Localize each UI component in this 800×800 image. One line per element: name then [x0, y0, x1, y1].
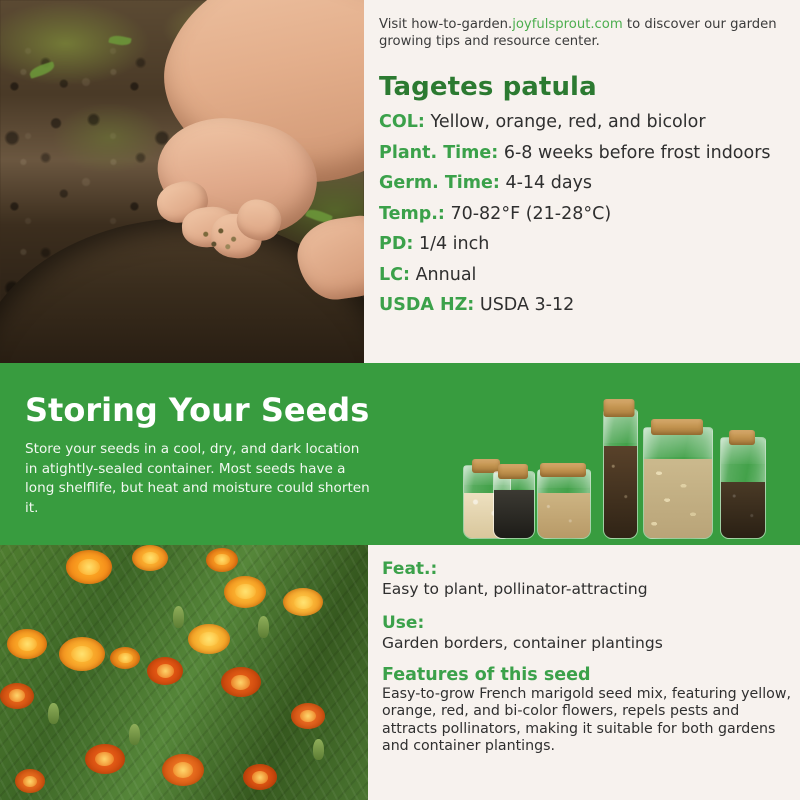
use-label: Use:: [382, 613, 792, 633]
spec-value: 4-14 days: [505, 173, 592, 193]
visit-line: Visit how-to-garden.joyfulsprout.com to …: [379, 16, 789, 50]
spec-value: Annual: [416, 265, 477, 285]
seed-jar: [720, 437, 766, 539]
seed-packet-infographic: Visit how-to-garden.joyfulsprout.com to …: [0, 0, 800, 800]
jar-contents: [721, 482, 765, 538]
marigold-bloom: [162, 754, 204, 786]
marigold-bud: [258, 616, 269, 638]
cork-lid: [651, 419, 703, 435]
feat-block: Feat.: Easy to plant, pollinator-attract…: [382, 559, 792, 599]
storing-seeds-band: Storing Your Seeds Store your seeds in a…: [0, 363, 800, 545]
spec-row: Germ. Time: 4-14 days: [379, 173, 799, 194]
marigold-bud: [129, 724, 140, 745]
seed-features-block: Features of this seed Easy-to-grow Frenc…: [382, 665, 792, 756]
spec-label: Germ. Time:: [379, 173, 500, 193]
spec-row: LC: Annual: [379, 265, 799, 286]
spec-label: COL:: [379, 112, 425, 132]
spec-row: USDA HZ: USDA 3-12: [379, 295, 799, 316]
spec-list: COL: Yellow, orange, red, and bicolor Pl…: [379, 112, 799, 326]
cork-lid: [498, 464, 528, 479]
visit-prefix: Visit how-to-garden.: [379, 17, 512, 32]
seed-jar: [643, 427, 713, 539]
marigold-bloom: [59, 637, 105, 671]
spec-value: Yellow, orange, red, and bicolor: [430, 112, 705, 132]
spec-row: Plant. Time: 6-8 weeks before frost indo…: [379, 143, 799, 164]
feat-label: Feat.:: [382, 559, 792, 579]
storing-title: Storing Your Seeds: [25, 391, 369, 429]
seed-jar: [603, 409, 638, 539]
features-panel: Feat.: Easy to plant, pollinator-attract…: [370, 545, 800, 800]
spec-value: USDA 3-12: [480, 295, 574, 315]
cork-lid: [540, 463, 586, 477]
spec-row: Temp.: 70-82°F (21-28°C): [379, 204, 799, 225]
marigold-bud: [48, 703, 59, 724]
marigold-bud: [173, 606, 184, 628]
seed-jar: [493, 471, 535, 539]
marigold-bloom: [15, 769, 45, 793]
jar-contents: [604, 446, 637, 538]
spec-label: LC:: [379, 265, 410, 285]
spec-value: 6-8 weeks before frost indoors: [504, 143, 771, 163]
spec-value: 70-82°F (21-28°C): [450, 204, 611, 224]
marigold-photo: [0, 545, 368, 800]
feat-value: Easy to plant, pollinator-attracting: [382, 579, 792, 599]
seed-jar: [537, 469, 591, 539]
use-block: Use: Garden borders, container plantings: [382, 613, 792, 653]
seeds-in-hand: [193, 221, 251, 254]
cork-lid: [604, 399, 635, 417]
spec-value: 1/4 inch: [419, 234, 489, 254]
marigold-bloom: [188, 624, 230, 654]
marigold-bloom: [85, 744, 125, 774]
cork-lid: [729, 430, 755, 445]
jar-contents: [538, 493, 590, 538]
spec-panel: Visit how-to-garden.joyfulsprout.com to …: [366, 0, 800, 363]
features-heading: Features of this seed: [382, 665, 792, 686]
features-paragraph: Easy-to-grow French marigold seed mix, f…: [382, 686, 792, 756]
spec-label: USDA HZ:: [379, 295, 474, 315]
use-value: Garden borders, container plantings: [382, 633, 792, 653]
seed-jars-image: [455, 371, 800, 545]
spec-row: COL: Yellow, orange, red, and bicolor: [379, 112, 799, 133]
jar-contents: [644, 459, 712, 538]
spec-label: Temp.:: [379, 204, 445, 224]
marigold-bloom: [206, 548, 238, 572]
spec-label: Plant. Time:: [379, 143, 498, 163]
marigold-bloom: [291, 703, 325, 729]
marigold-bloom: [224, 576, 266, 608]
storing-text: Store your seeds in a cool, dry, and dar…: [25, 440, 370, 518]
brand-link[interactable]: joyfulsprout.com: [512, 17, 623, 32]
spec-row: PD: 1/4 inch: [379, 234, 799, 255]
sowing-photo: [0, 0, 364, 363]
marigold-bud: [313, 739, 324, 760]
jar-contents: [494, 490, 534, 538]
page-title: Tagetes patula: [379, 72, 597, 102]
marigold-bloom: [0, 683, 34, 709]
spec-label: PD:: [379, 234, 413, 254]
